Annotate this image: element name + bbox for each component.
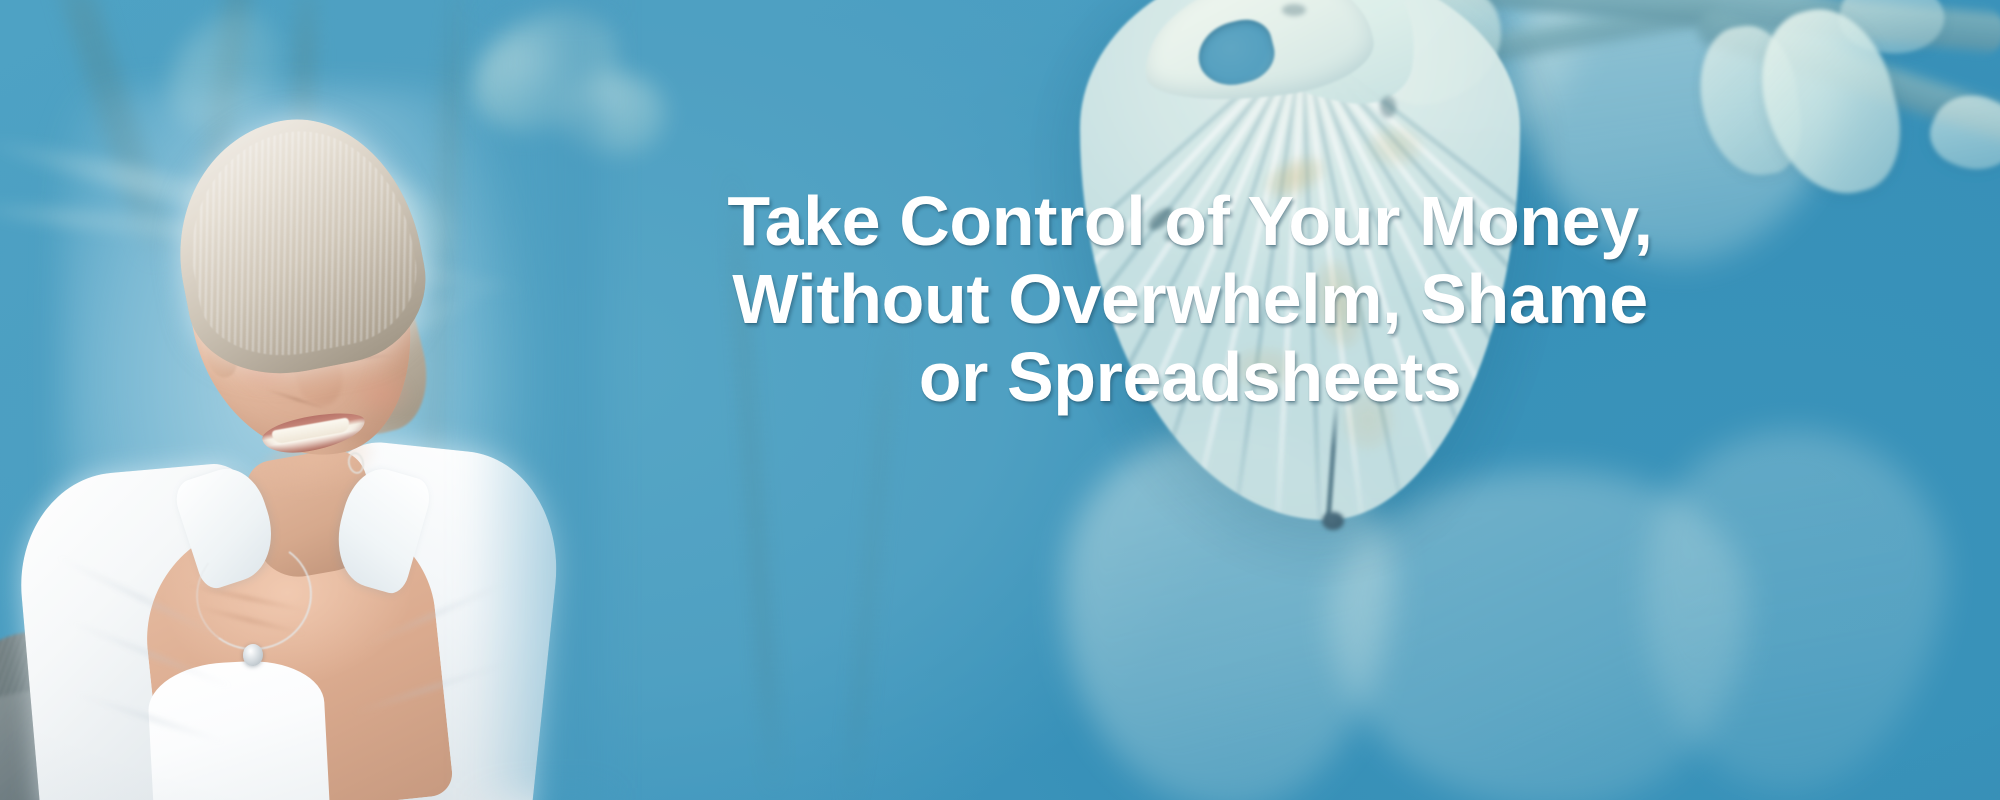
thread-bead-icon: [1322, 512, 1344, 530]
shell-stain: [1368, 126, 1422, 166]
pendant-icon: [243, 644, 263, 666]
headline-line-3: or Spreadsheets: [500, 338, 1880, 416]
shell-speck: [1380, 96, 1396, 118]
hero-banner: Take Control of Your Money, Without Over…: [0, 0, 2000, 800]
woman-portrait-image: [0, 0, 560, 800]
cheek: [348, 370, 414, 418]
tank-top: [146, 657, 330, 800]
hero-headline: Take Control of Your Money, Without Over…: [500, 182, 1880, 416]
headline-line-1: Take Control of Your Money,: [500, 182, 1880, 260]
headline-line-2: Without Overwhelm, Shame: [500, 260, 1880, 338]
shell-speck: [1282, 4, 1306, 16]
